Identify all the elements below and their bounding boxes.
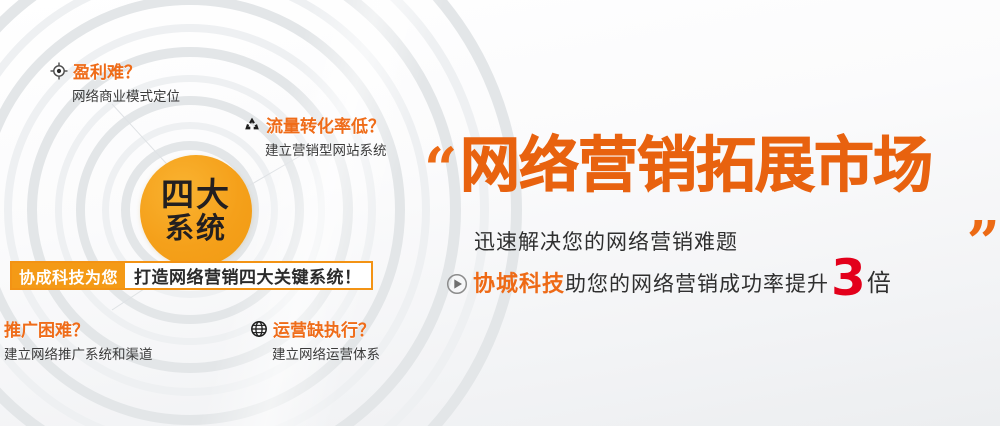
callout-promotion-title: 推广困难？ <box>4 316 89 341</box>
multiplier-unit: 倍 <box>867 263 891 298</box>
callout-traffic-subtitle: 建立营销型网站系统 <box>265 139 387 159</box>
four-systems-disc: 四大 系统 <box>140 155 252 267</box>
strap-message: 打造网络营销四大关键系统！ <box>125 263 371 288</box>
brand-name: 协城科技 <box>473 266 565 298</box>
callout-operations: 运营缺执行？ 建立网络运营体系 <box>250 316 380 363</box>
callout-operations-subtitle: 建立网络运营体系 <box>272 343 380 363</box>
callout-profit-subtitle: 网络商业模式定位 <box>72 85 180 105</box>
callout-promotion-subtitle: 建立网络推广系统和渠道 <box>4 343 153 363</box>
callout-traffic-title: 流量转化率低？ <box>266 112 385 137</box>
callout-operations-title: 运营缺执行？ <box>273 316 375 341</box>
callout-profit-head: 盈利难？ <box>50 58 180 83</box>
callout-promotion-head: 推广困难？ <box>4 316 153 341</box>
callout-traffic-head: 流量转化率低？ <box>243 112 387 137</box>
subheadline-line-1: 迅速解决您的网络营销难题 <box>474 226 1000 256</box>
circled-play-arrow-icon <box>446 273 468 295</box>
callout-profit: 盈利难？ 网络商业模式定位 <box>50 58 180 105</box>
globe-icon <box>250 320 268 338</box>
quote-open-icon: “ <box>424 140 457 198</box>
disc-line-1: 四大 <box>161 178 231 212</box>
strap-banner: 协成科技为您 打造网络营销四大关键系统！ <box>10 261 373 290</box>
disc-line-2: 系统 <box>165 214 227 244</box>
callout-traffic: 流量转化率低？ 建立营销型网站系统 <box>243 112 387 159</box>
headline-wrapper: “ 网络营销拓展市场 „ <box>424 136 1000 228</box>
subheadline-line-2: 协城科技 助您的网络营销成功率提升 3 倍 <box>446 259 1000 298</box>
strap-tag: 协成科技为您 <box>12 263 125 288</box>
page-title: 网络营销拓展市场 <box>460 136 932 197</box>
callout-operations-head: 运营缺执行？ <box>250 316 380 341</box>
quote-close-icon: „ <box>968 180 1000 238</box>
crosshair-target-icon <box>50 62 68 80</box>
callout-promotion: 推广困难？ 建立网络推广系统和渠道 <box>4 316 153 363</box>
right-copy-block: “ 网络营销拓展市场 „ 迅速解决您的网络营销难题 协城科技 助您的网络营销成功… <box>424 136 1000 298</box>
subheadline-rest: 助您的网络营销成功率提升 <box>565 268 829 298</box>
marketing-banner: 四大 系统 盈利难？ 网络商业模式定位 <box>0 0 1000 426</box>
recycle-icon <box>243 116 261 134</box>
callout-profit-title: 盈利难？ <box>73 58 141 83</box>
multiplier-number: 3 <box>831 259 866 298</box>
